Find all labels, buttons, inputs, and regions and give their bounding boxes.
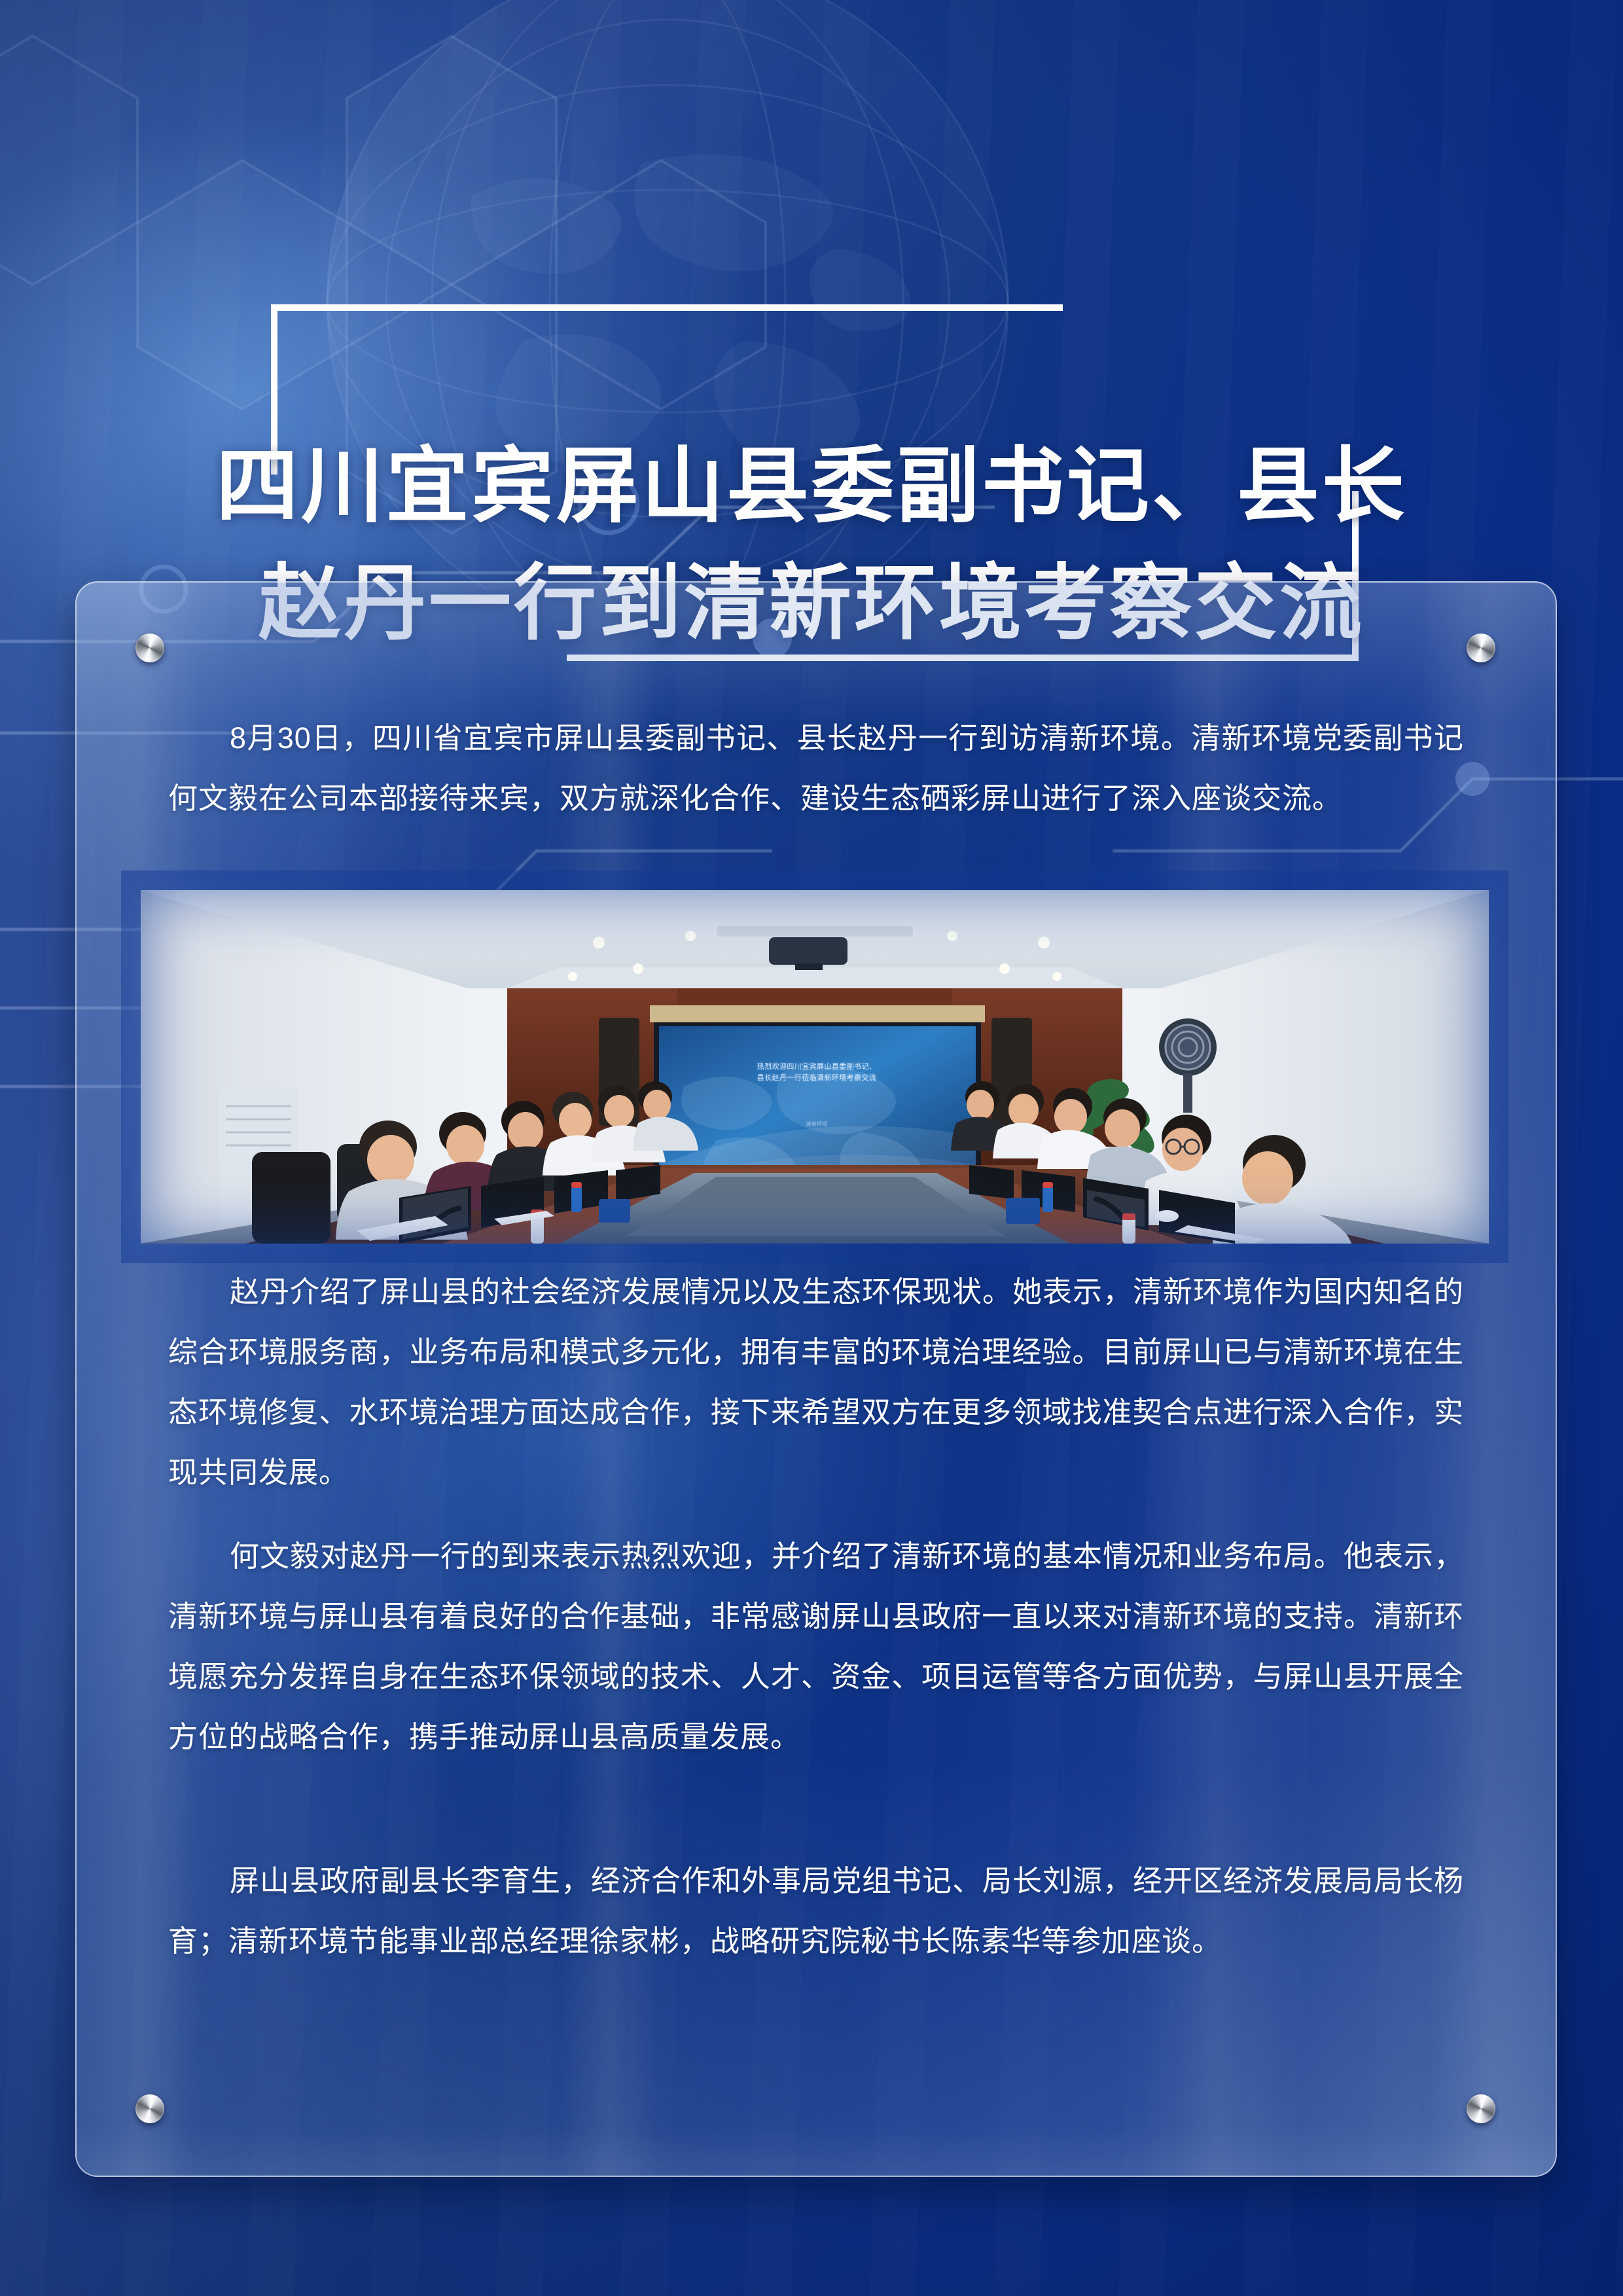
- screw-bottom-left-icon: [135, 2094, 164, 2123]
- projection-line-2: 县长赵丹一行莅临清新环境考察交流: [725, 1073, 908, 1084]
- meeting-photo: 热烈欢迎四川宜宾屏山县委副书记、 县长赵丹一行莅临清新环境考察交流 清新环境: [141, 890, 1489, 1244]
- article-paragraph-2: 赵丹介绍了屏山县的社会经济发展情况以及生态环保现状。她表示，清新环境作为国内知名…: [168, 1262, 1464, 1503]
- screw-bottom-right-icon: [1467, 2094, 1495, 2123]
- paragraph-text: 屏山县政府副县长李育生，经济合作和外事局党组书记、局长刘源，经开区经济发展局局长…: [168, 1851, 1464, 1971]
- paragraph-text: 何文毅对赵丹一行的到来表示热烈欢迎，并介绍了清新环境的基本情况和业务布局。他表示…: [168, 1526, 1464, 1767]
- screw-top-right-icon: [1467, 634, 1495, 662]
- paragraph-text: 赵丹介绍了屏山县的社会经济发展情况以及生态环保现状。她表示，清新环境作为国内知名…: [168, 1262, 1464, 1503]
- projection-screen-subtext: 清新环境: [725, 1121, 908, 1128]
- projection-line-1: 热烈欢迎四川宜宾屏山县委副书记、: [725, 1062, 908, 1073]
- screw-top-left-icon: [135, 634, 164, 662]
- content-card: 8月30日，四川省宜宾市屏山县委副书记、县长赵丹一行到访清新环境。清新环境党委副…: [75, 581, 1557, 2177]
- paragraph-text: 8月30日，四川省宜宾市屏山县委副书记、县长赵丹一行到访清新环境。清新环境党委副…: [168, 708, 1464, 829]
- article-paragraph-4: 屏山县政府副县长李育生，经济合作和外事局党组书记、局长刘源，经开区经济发展局局长…: [168, 1851, 1464, 1971]
- article-paragraph-1: 8月30日，四川省宜宾市屏山县委副书记、县长赵丹一行到访清新环境。清新环境党委副…: [168, 708, 1464, 829]
- page-title-line-1: 四川宜宾屏山县委副书记、县长: [0, 428, 1623, 545]
- poster-title-block: 四川宜宾屏山县委副书记、县长 赵丹一行到清新环境考察交流: [0, 137, 1623, 543]
- projection-screen-text: 热烈欢迎四川宜宾屏山县委副书记、 县长赵丹一行莅临清新环境考察交流: [725, 1062, 908, 1084]
- article-paragraph-3: 何文毅对赵丹一行的到来表示热烈欢迎，并介绍了清新环境的基本情况和业务布局。他表示…: [168, 1526, 1464, 1767]
